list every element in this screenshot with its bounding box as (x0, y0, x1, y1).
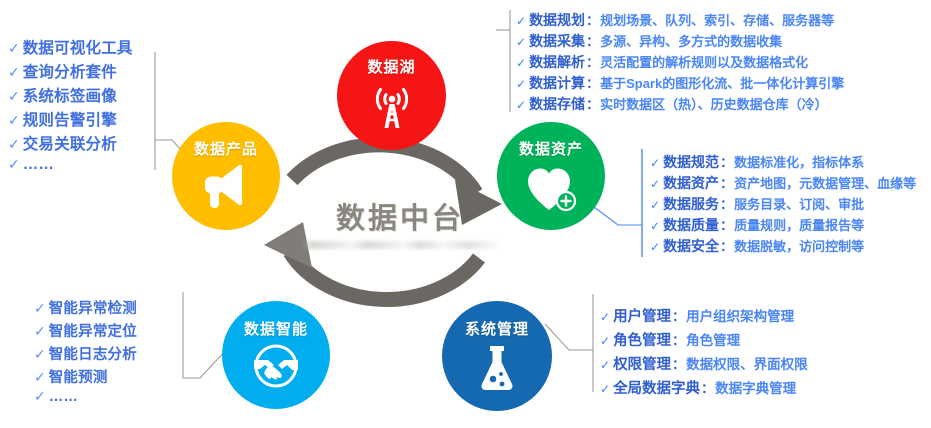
list-item-term: 数据规范 (663, 152, 719, 172)
list-item-term: …… (49, 389, 78, 405)
list-item-term: 数据安全 (663, 236, 719, 256)
check-icon: ✓ (650, 220, 660, 232)
hub-title: 数据中台 (300, 205, 500, 234)
list-item-colon: ： (586, 52, 599, 71)
check-icon: ✓ (600, 335, 610, 347)
list-item: ✓数据解析：灵活配置的解析规则以及数据格式化 (516, 52, 844, 72)
list-item-desc: 数据脱敏，访问控制等 (734, 236, 864, 255)
list-item-desc: 规划场景、队列、索引、存储、服务器等 (600, 10, 834, 29)
list-item: ✓数据规划：规划场景、队列、索引、存储、服务器等 (516, 10, 844, 30)
list-item-term: 数据存储 (529, 94, 585, 114)
list-item-term: 交易关联分析 (23, 132, 117, 154)
list-item: ✓数据计算：基于Spark的图形化流、批一体化计算引擎 (516, 73, 844, 93)
list-item: ✓权限管理：数据权限、界面权限 (600, 353, 808, 374)
list-item-colon: ： (720, 194, 733, 213)
check-icon: ✓ (8, 113, 20, 127)
list-item: ✓智能预测 (34, 366, 137, 387)
check-icon: ✓ (34, 347, 46, 361)
list-item: ✓交易关联分析 (8, 132, 133, 154)
check-icon: ✓ (516, 36, 526, 48)
list-item-colon: ： (672, 354, 685, 373)
list-item-colon: ： (586, 10, 599, 29)
list-item-colon: ： (586, 73, 599, 92)
list-item: ✓数据可视化工具 (8, 36, 133, 58)
check-icon: ✓ (600, 359, 610, 371)
list-item-desc: 灵活配置的解析规则以及数据格式化 (600, 52, 808, 71)
list-item: ✓数据规范：数据标准化，指标体系 (650, 152, 916, 172)
list-item-term: 智能日志分析 (49, 343, 137, 364)
node-data-asset[interactable]: 数据资产 (497, 122, 605, 230)
list-item-colon: ： (586, 31, 599, 50)
check-icon: ✓ (650, 199, 660, 211)
list-item-term: 数据服务 (663, 194, 719, 214)
list-item-term: 数据解析 (529, 52, 585, 72)
list-item-term: 查询分析套件 (23, 60, 117, 82)
node-label: 数据产品 (194, 138, 258, 159)
node-data-product[interactable]: 数据产品 (172, 122, 280, 230)
check-icon: ✓ (34, 301, 46, 315)
list-item-desc: 多源、异构、多方式的数据收集 (600, 31, 782, 50)
check-icon: ✓ (8, 157, 20, 171)
node-label: 数据资产 (519, 138, 583, 159)
check-icon: ✓ (650, 241, 660, 253)
list-item: ✓…… (34, 389, 137, 405)
list-bottom-left: ✓智能异常检测 ✓智能异常定位 ✓智能日志分析 ✓智能预测 ✓…… (34, 297, 137, 407)
check-icon: ✓ (34, 324, 46, 338)
check-icon: ✓ (8, 137, 20, 151)
check-icon: ✓ (516, 78, 526, 90)
list-item: ✓智能异常检测 (34, 297, 137, 318)
list-top-left: ✓数据可视化工具 ✓查询分析套件 ✓系统标签画像 ✓规则告警引擎 ✓交易关联分析… (8, 36, 133, 176)
list-item-colon: ： (672, 306, 685, 325)
list-item-colon: ： (720, 236, 733, 255)
list-item-term: 数据规划 (529, 10, 585, 30)
node-data-intelligence[interactable]: 数据智能 (222, 301, 330, 409)
center-hub: 数据中台 (300, 205, 500, 249)
list-item-term: …… (23, 156, 54, 174)
list-item: ✓数据采集：多源、异构、多方式的数据收集 (516, 31, 844, 51)
list-item-desc: 资产地图，元数据管理、血缘等 (734, 173, 916, 192)
list-item-colon: ： (720, 215, 733, 234)
list-item: ✓系统标签画像 (8, 84, 133, 106)
megaphone-icon (198, 163, 254, 209)
list-item: ✓…… (8, 156, 133, 174)
list-item-desc: 基于Spark的图形化流、批一体化计算引擎 (600, 73, 844, 92)
check-icon: ✓ (8, 41, 20, 55)
list-item: ✓数据服务：服务目录、订阅、审批 (650, 194, 916, 214)
check-icon: ✓ (516, 15, 526, 27)
list-item-term: 系统标签画像 (23, 84, 117, 106)
node-label: 系统管理 (465, 318, 529, 339)
hub-subtitle-blurred (300, 241, 500, 249)
list-item-colon: ： (586, 94, 599, 113)
flask-icon (474, 343, 520, 393)
handshake-icon (248, 343, 304, 389)
list-item: ✓数据存储：实时数据区（热）、历史数据仓库（冷） (516, 94, 844, 114)
list-item: ✓数据资产：资产地图，元数据管理、血缘等 (650, 173, 916, 193)
list-item-desc: 数据权限、界面权限 (686, 353, 808, 373)
list-item-term: 权限管理 (613, 353, 671, 374)
check-icon: ✓ (8, 65, 20, 79)
list-item: ✓数据质量：质量规则，质量报告等 (650, 215, 916, 235)
list-item-desc: 实时数据区（热）、历史数据仓库（冷） (600, 94, 828, 113)
list-item-colon: ： (720, 152, 733, 171)
node-label: 数据智能 (244, 318, 308, 339)
list-item-desc: 数据标准化，指标体系 (734, 152, 864, 171)
infographic-canvas: 数据中台 数据湖 (0, 0, 931, 428)
list-mid-right: ✓数据规范：数据标准化，指标体系 ✓数据资产：资产地图，元数据管理、血缘等 ✓数… (650, 152, 916, 257)
list-item-term: 数据质量 (663, 215, 719, 235)
node-data-lake[interactable]: 数据湖 (337, 41, 446, 150)
list-item-term: 数据计算 (529, 73, 585, 93)
check-icon: ✓ (600, 383, 610, 395)
list-item: ✓角色管理：角色管理 (600, 329, 808, 350)
list-item-term: 智能异常定位 (49, 320, 137, 341)
check-icon: ✓ (34, 370, 46, 384)
list-item-desc: 数据字典管理 (715, 377, 796, 397)
list-item-term: 角色管理 (613, 329, 671, 350)
list-item-desc: 角色管理 (686, 329, 740, 349)
check-icon: ✓ (600, 311, 610, 323)
list-item-term: 规则告警引擎 (23, 108, 117, 130)
list-item-desc: 用户组织架构管理 (686, 305, 794, 325)
check-icon: ✓ (516, 57, 526, 69)
list-item-term: 智能异常检测 (49, 297, 137, 318)
node-system-management[interactable]: 系统管理 (442, 301, 552, 411)
list-item: ✓数据安全：数据脱敏，访问控制等 (650, 236, 916, 256)
list-item: ✓智能异常定位 (34, 320, 137, 341)
list-item: ✓用户管理：用户组织架构管理 (600, 305, 808, 326)
check-icon: ✓ (8, 89, 20, 103)
list-item: ✓全局数据字典：数据字典管理 (600, 377, 808, 398)
list-item-term: 数据可视化工具 (23, 36, 133, 58)
list-item-term: 用户管理 (613, 305, 671, 326)
list-item-term: 数据资产 (663, 173, 719, 193)
heart-plus-icon (522, 163, 580, 213)
list-item-term: 全局数据字典 (613, 377, 700, 398)
broadcast-tower-icon (366, 81, 418, 131)
check-icon: ✓ (650, 178, 660, 190)
list-bottom-right: ✓用户管理：用户组织架构管理 ✓角色管理：角色管理 ✓权限管理：数据权限、界面权… (600, 305, 808, 401)
list-item: ✓智能日志分析 (34, 343, 137, 364)
list-item-desc: 质量规则，质量报告等 (734, 215, 864, 234)
list-item-colon: ： (720, 173, 733, 192)
list-top-right: ✓数据规划：规划场景、队列、索引、存储、服务器等 ✓数据采集：多源、异构、多方式… (516, 10, 844, 115)
node-label: 数据湖 (367, 56, 415, 77)
list-item: ✓规则告警引擎 (8, 108, 133, 130)
list-item: ✓查询分析套件 (8, 60, 133, 82)
list-item-colon: ： (672, 330, 685, 349)
check-icon: ✓ (650, 157, 660, 169)
list-item-desc: 服务目录、订阅、审批 (734, 194, 864, 213)
check-icon: ✓ (516, 99, 526, 111)
list-item-term: 数据采集 (529, 31, 585, 51)
list-item-term: 智能预测 (49, 366, 108, 387)
check-icon: ✓ (34, 389, 46, 403)
list-item-colon: ： (701, 378, 714, 397)
